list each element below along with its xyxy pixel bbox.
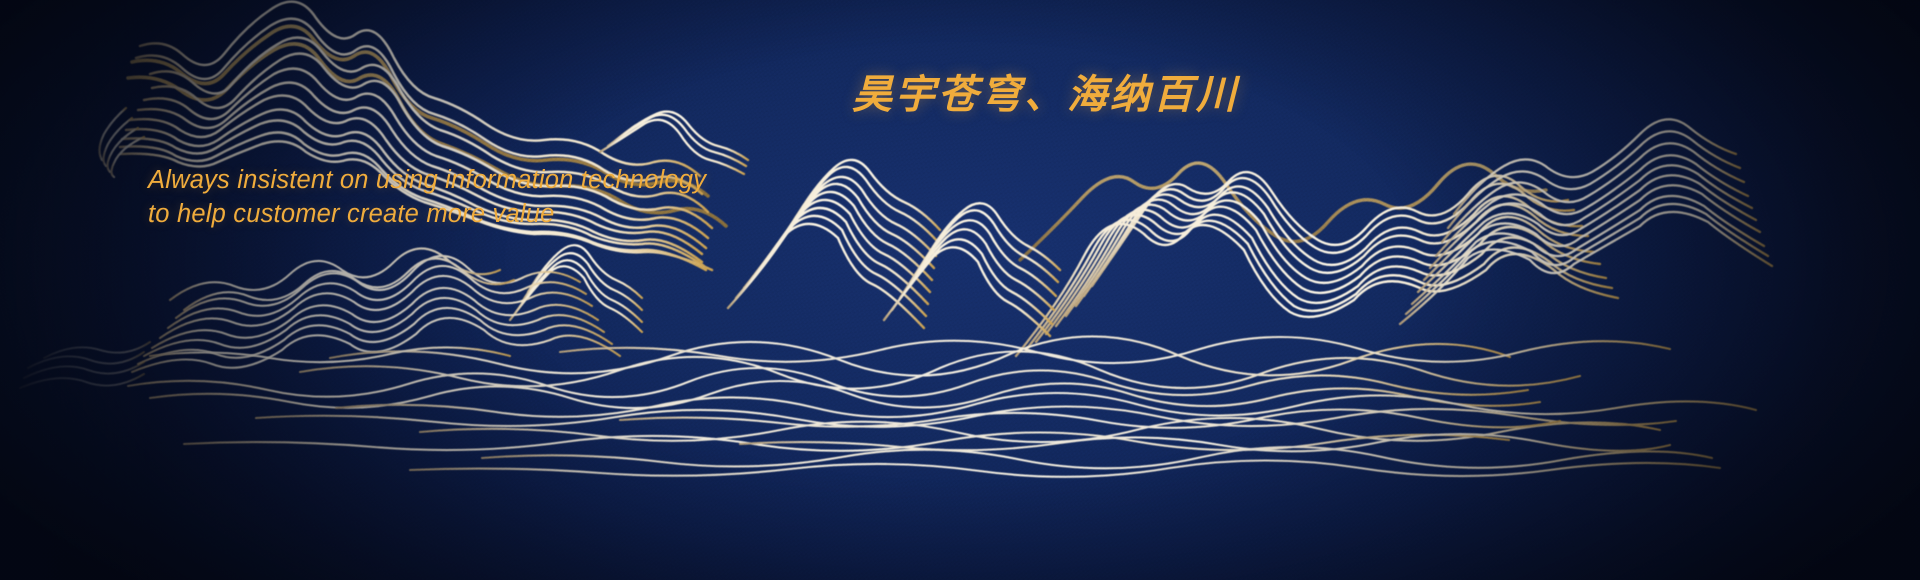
hero-banner: 昊宇苍穹、海纳百川 Always insistent on using info… (0, 0, 1920, 580)
contour-line-mountain-landscape (0, 0, 1920, 580)
